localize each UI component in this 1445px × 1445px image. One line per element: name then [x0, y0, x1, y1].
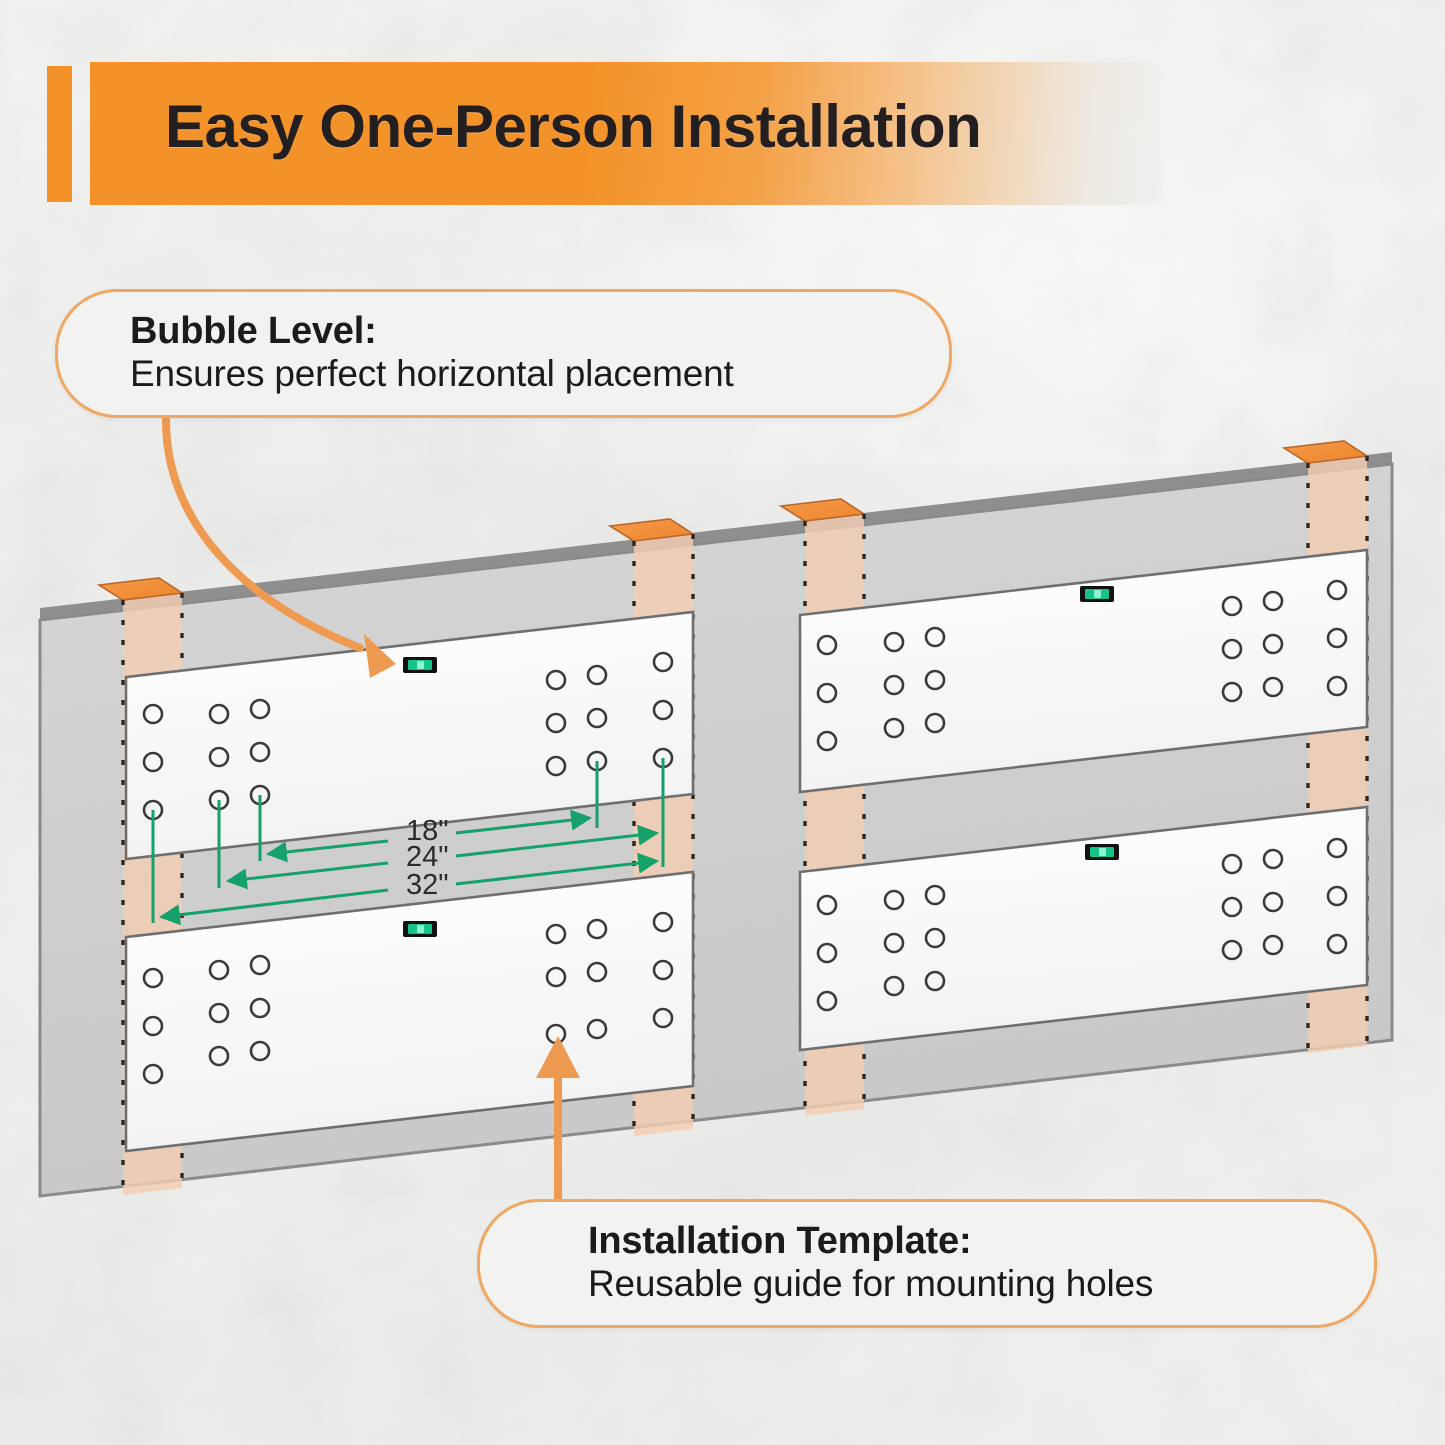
measure-label-32: 32" [406, 869, 449, 901]
infographic-canvas: 18" 24" 32" Easy One-Person Installation… [0, 0, 1445, 1445]
callout-installation-template-body: Reusable guide for mounting holes [588, 1263, 1374, 1305]
callout-bubble-level-title: Bubble Level: [130, 310, 949, 353]
bubble-level-top-right [1080, 586, 1114, 602]
bubble-level-bottom-left [403, 921, 437, 937]
page-title: Easy One-Person Installation [165, 92, 981, 161]
header-accent-tick [47, 66, 72, 202]
callout-installation-template-title: Installation Template: [588, 1220, 1374, 1263]
callout-bubble-level-body: Ensures perfect horizontal placement [130, 353, 949, 395]
header-banner: Easy One-Person Installation [47, 62, 1162, 206]
callout-bubble-level: Bubble Level: Ensures perfect horizontal… [55, 289, 952, 418]
bubble-level-top-left [403, 657, 437, 673]
measurement-labels: 18" 24" 32" [406, 815, 449, 901]
bubble-level-bottom-right [1085, 844, 1119, 860]
callout-installation-template: Installation Template: Reusable guide fo… [477, 1199, 1377, 1328]
